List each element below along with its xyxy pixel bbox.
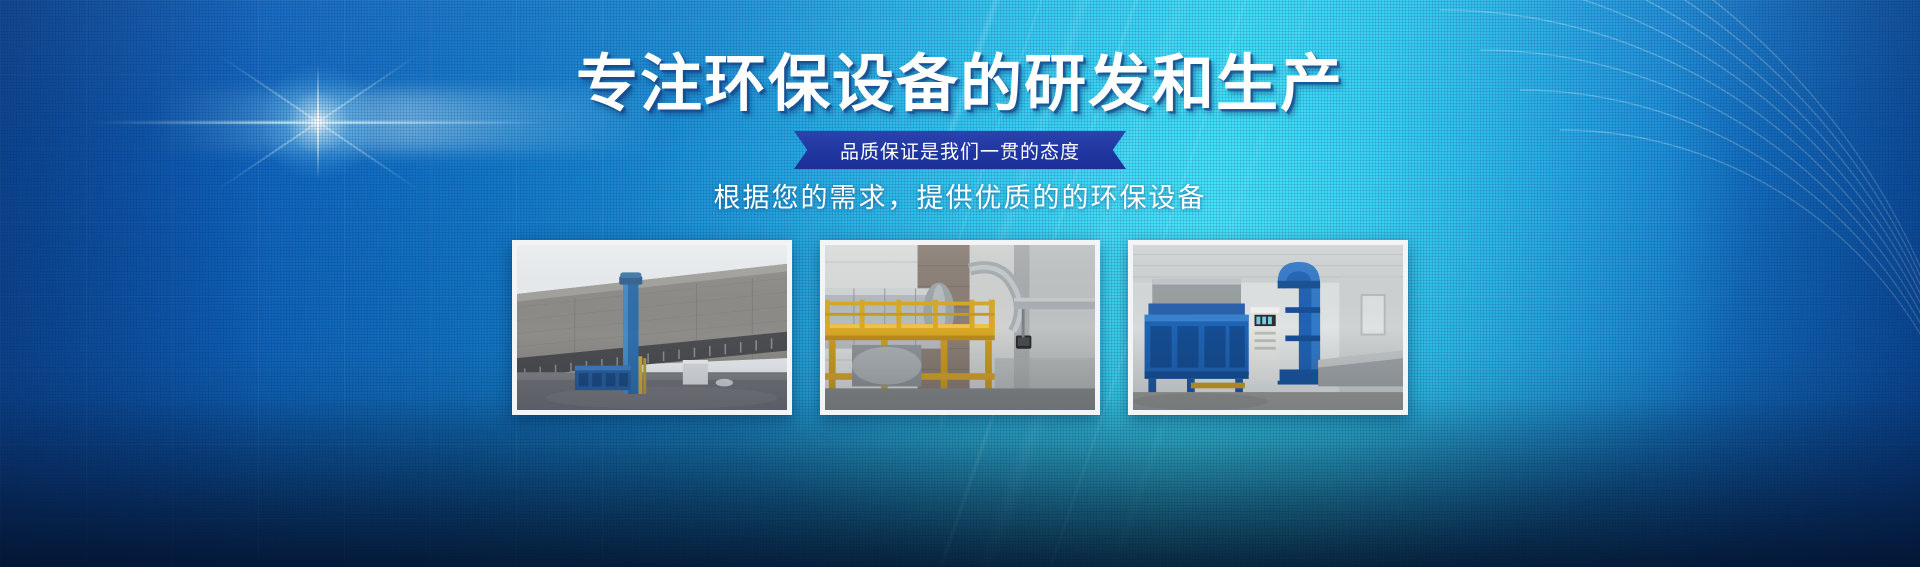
product-photo-1[interactable] [512,240,792,415]
banner-badge-wrapper: 品质保证是我们一贯的态度 [0,131,1920,169]
product-photo-2[interactable] [820,240,1100,415]
banner-subline: 根据您的需求，提供优质的的环保设备 [0,176,1920,215]
banner-content: 专注环保设备的研发和生产 品质保证是我们一贯的态度 根据您的需求，提供优质的的环… [0,0,1920,567]
quality-slogan-badge: 品质保证是我们一贯的态度 [794,131,1126,169]
banner-headline: 专注环保设备的研发和生产 [0,54,1920,116]
product-photo-3[interactable] [1128,240,1408,415]
photo-3-scene [1133,245,1403,410]
photo-2-scene [825,245,1095,410]
photo-1-scene [517,245,787,410]
promo-banner: 专注环保设备的研发和生产 品质保证是我们一贯的态度 根据您的需求，提供优质的的环… [0,0,1920,567]
product-photo-strip [0,240,1920,415]
